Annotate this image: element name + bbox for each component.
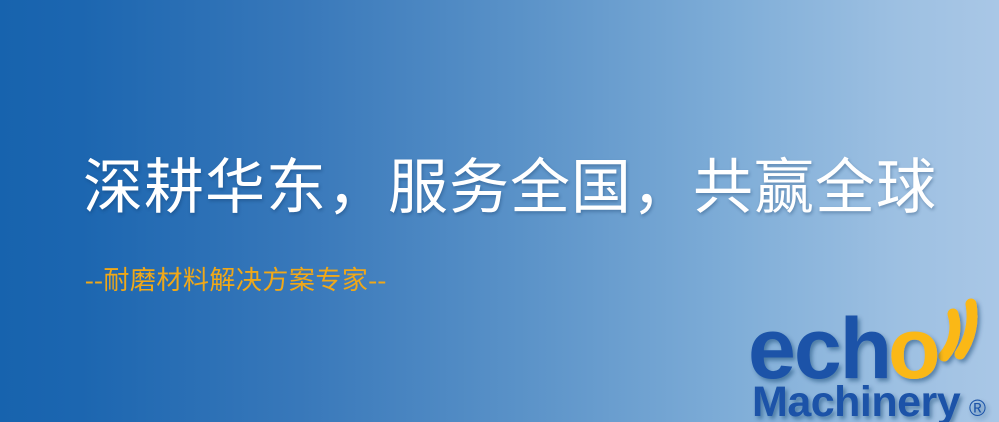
logo-svg: ech o Machinery ® <box>748 294 999 422</box>
logo-registered-mark: ® <box>969 395 986 421</box>
echo-machinery-logo[interactable]: ech o Machinery ® <box>748 294 999 422</box>
banner-subtitle: --耐磨材料解决方案专家-- <box>85 264 387 298</box>
logo-tagline: Machinery <box>752 378 961 422</box>
signal-arcs-icon <box>944 304 972 356</box>
banner-headline: 深耕华东，服务全国，共赢全球 <box>83 152 953 224</box>
hero-banner: 深耕华东，服务全国，共赢全球 --耐磨材料解决方案专家-- ech o Mach… <box>0 0 999 422</box>
